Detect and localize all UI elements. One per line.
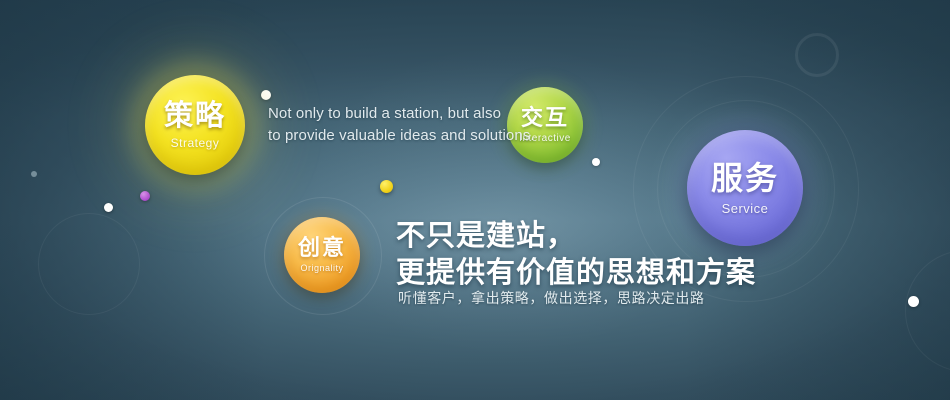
dot-yellow-mid	[380, 180, 393, 193]
bubble-strategy-cn-label: 策略	[164, 102, 226, 131]
dot-white-right	[908, 296, 919, 307]
bubble-service-cn-label: 服务	[711, 162, 779, 194]
english-tagline: Not only to build a station, but also to…	[268, 103, 535, 147]
bubble-strategy-en-label: Strategy	[171, 137, 220, 149]
headline-line2: 更提供有价值的思想和方案	[396, 255, 756, 292]
bubble-originality-cn-label: 创意	[298, 237, 346, 259]
headline-line1: 不只是建站，	[396, 218, 756, 255]
dot-purple-left	[140, 191, 150, 201]
english-tagline-line2: to provide valuable ideas and solutions.	[268, 125, 535, 147]
bubble-originality[interactable]: 创意 Orignality	[284, 217, 360, 293]
english-tagline-line1: Not only to build a station, but also	[268, 103, 535, 125]
headline: 不只是建站， 更提供有价值的思想和方案	[396, 218, 756, 292]
dot-white-left	[104, 203, 113, 212]
dot-gray-left	[31, 171, 37, 177]
bubble-strategy[interactable]: 策略 Strategy	[145, 75, 245, 175]
bubble-originality-en-label: Orignality	[300, 264, 343, 273]
bubble-service-en-label: Service	[722, 202, 769, 215]
hero-banner: 策略 Strategy 交互 Interactive 创意 Orignality…	[0, 0, 950, 400]
dot-white-top	[261, 90, 271, 100]
dot-white-mid	[592, 158, 600, 166]
subheadline: 听懂客户，拿出策略，做出选择，思路决定出路	[398, 288, 705, 308]
